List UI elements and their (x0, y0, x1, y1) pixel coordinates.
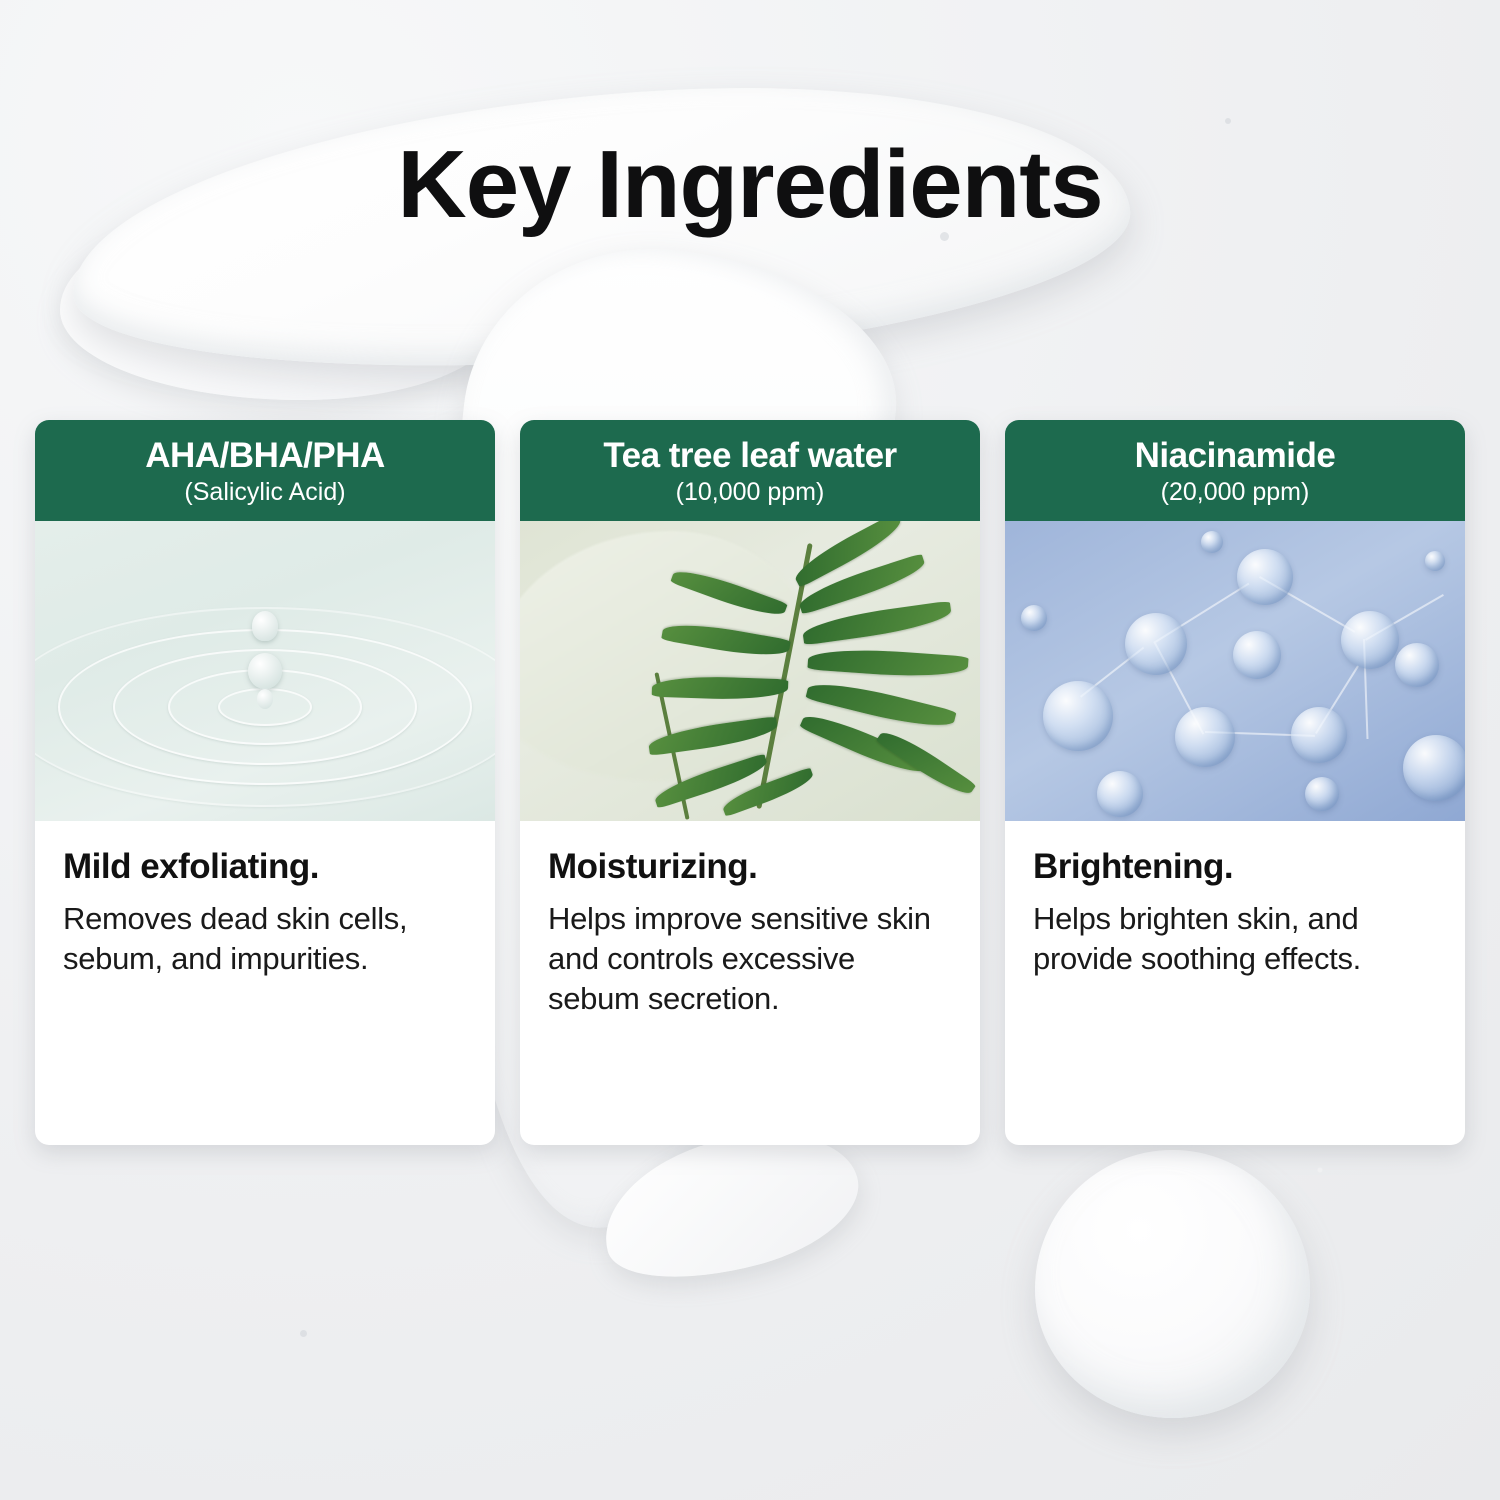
ingredient-card[interactable]: Niacinamide (20,000 ppm) (1005, 420, 1465, 1145)
leaf-shape (807, 646, 968, 681)
molecule-bubbles-image (1005, 521, 1465, 821)
benefit-title: Moisturizing. (548, 847, 952, 887)
cream-droplet-large (1035, 1150, 1310, 1418)
molecule-bubble (1201, 531, 1223, 553)
card-body: Moisturizing. Helps improve sensitive sk… (520, 821, 980, 1040)
texture-speck (1225, 118, 1231, 124)
page-title: Key Ingredients (0, 130, 1500, 240)
ingredient-subtitle: (10,000 ppm) (530, 478, 970, 507)
tea-tree-leaves-image (520, 521, 980, 821)
molecule-bubble (1291, 707, 1347, 763)
water-droplet-icon (252, 611, 278, 641)
benefit-text: Helps improve sensitive skin and control… (548, 899, 952, 1018)
ingredient-name: Niacinamide (1015, 436, 1455, 475)
ingredient-name: AHA/BHA/PHA (45, 436, 485, 475)
molecule-bubble (1125, 613, 1187, 675)
card-header: Tea tree leaf water (10,000 ppm) (520, 420, 980, 521)
molecule-bubble (1043, 681, 1113, 751)
ingredient-card[interactable]: AHA/BHA/PHA (Salicylic Acid) Mild exfoli… (35, 420, 495, 1145)
molecule-bubble (1425, 551, 1445, 571)
water-droplet-icon (257, 689, 273, 709)
card-body: Mild exfoliating. Removes dead skin cell… (35, 821, 495, 1000)
benefit-text: Removes dead skin cells, sebum, and impu… (63, 899, 467, 978)
ingredient-card[interactable]: Tea tree leaf water (10,000 ppm) Moistur… (520, 420, 980, 1145)
molecule-bubble (1305, 777, 1339, 811)
ingredient-name: Tea tree leaf water (530, 436, 970, 475)
water-droplet-icon (248, 653, 282, 689)
ingredient-card-list: AHA/BHA/PHA (Salicylic Acid) Mild exfoli… (35, 420, 1465, 1145)
benefit-text: Helps brighten skin, and provide soothin… (1033, 899, 1437, 978)
benefit-title: Mild exfoliating. (63, 847, 467, 887)
ingredient-subtitle: (20,000 ppm) (1015, 478, 1455, 507)
molecule-bubble (1341, 611, 1399, 669)
molecule-bubble (1395, 643, 1439, 687)
molecule-bubble (1097, 771, 1143, 817)
benefit-title: Brightening. (1033, 847, 1437, 887)
card-header: Niacinamide (20,000 ppm) (1005, 420, 1465, 521)
molecule-bubble (1237, 549, 1293, 605)
molecule-bubble (1175, 707, 1235, 767)
molecule-bubble (1403, 735, 1465, 801)
molecule-bubble (1233, 631, 1281, 679)
texture-speck (300, 1330, 307, 1337)
water-ripple-image (35, 521, 495, 821)
molecule-bubble (1021, 605, 1047, 631)
ingredient-subtitle: (Salicylic Acid) (45, 478, 485, 507)
card-header: AHA/BHA/PHA (Salicylic Acid) (35, 420, 495, 521)
card-body: Brightening. Helps brighten skin, and pr… (1005, 821, 1465, 1000)
